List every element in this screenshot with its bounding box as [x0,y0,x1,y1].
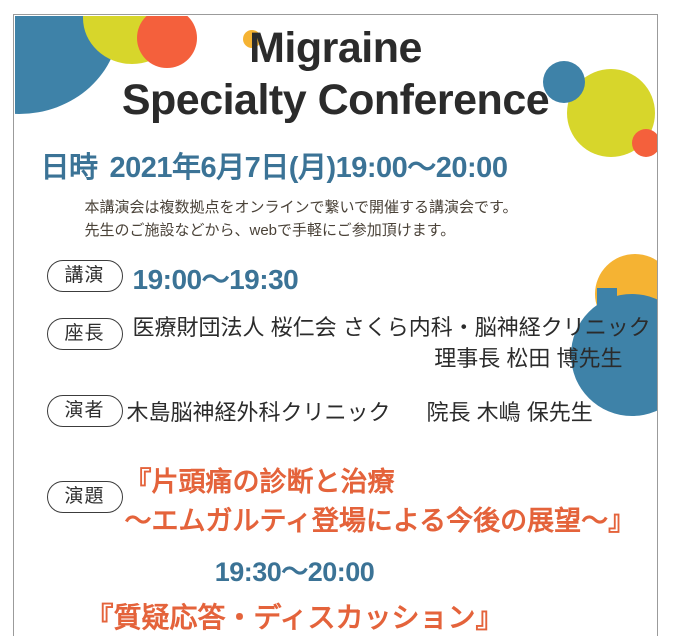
flyer-canvas: Migraine Specialty Conference 日時2021年6月7… [15,16,657,636]
speaker-affiliation: 木島脳神経外科クリニック [127,400,391,425]
discussion-time: 19:30〜20:00 [15,550,575,589]
event-note: 本講演会は複数拠点をオンラインで繋いで開催する講演会です。 先生のご施設などから… [85,196,518,243]
page-title: Migraine Specialty Conference [15,22,657,127]
topic-title-line-2: 〜エムガルティ登場による今後の展望〜』 [125,502,636,541]
speaker-name: 院長 木嶋 保先生 [427,400,593,425]
badge-lecture: 講演 [47,260,123,292]
speaker-details: 木島脳神経外科クリニック院長 木嶋 保先生 [127,395,593,427]
topic-title-line-1: 『片頭痛の診断と治療 [125,463,636,502]
flyer-content: Migraine Specialty Conference 日時2021年6月7… [15,16,657,636]
chairperson-name: 理事長 松田 博先生 [133,343,633,375]
event-note-line-1: 本講演会は複数拠点をオンラインで繋いで開催する講演会です。 [85,196,518,219]
title-line-1: Migraine [15,22,657,74]
topic-title: 『片頭痛の診断と治療 〜エムガルティ登場による今後の展望〜』 [125,463,636,541]
event-datetime-label: 日時 [41,152,98,184]
event-note-line-2: 先生のご施設などから、webで手軽にご参加頂けます。 [85,219,518,242]
badge-topic: 演題 [47,481,123,513]
badge-chairperson: 座長 [47,318,123,350]
discussion-title: 『質疑応答・ディスカッション』 [15,596,575,636]
event-datetime: 日時2021年6月7日(月)19:00〜20:00 [41,144,657,186]
badge-speaker: 演者 [47,395,123,427]
flyer-page: Migraine Specialty Conference 日時2021年6月7… [0,0,680,636]
lecture-time: 19:00〜19:30 [133,258,299,298]
event-datetime-value: 2021年6月7日(月)19:00〜20:00 [110,152,508,184]
title-line-2: Specialty Conference [15,74,657,126]
chairperson-details: 医療財団法人 桜仁会 さくら内科・脳神経クリニック 理事長 松田 博先生 [133,312,633,376]
chairperson-affiliation: 医療財団法人 桜仁会 さくら内科・脳神経クリニック [133,312,633,344]
